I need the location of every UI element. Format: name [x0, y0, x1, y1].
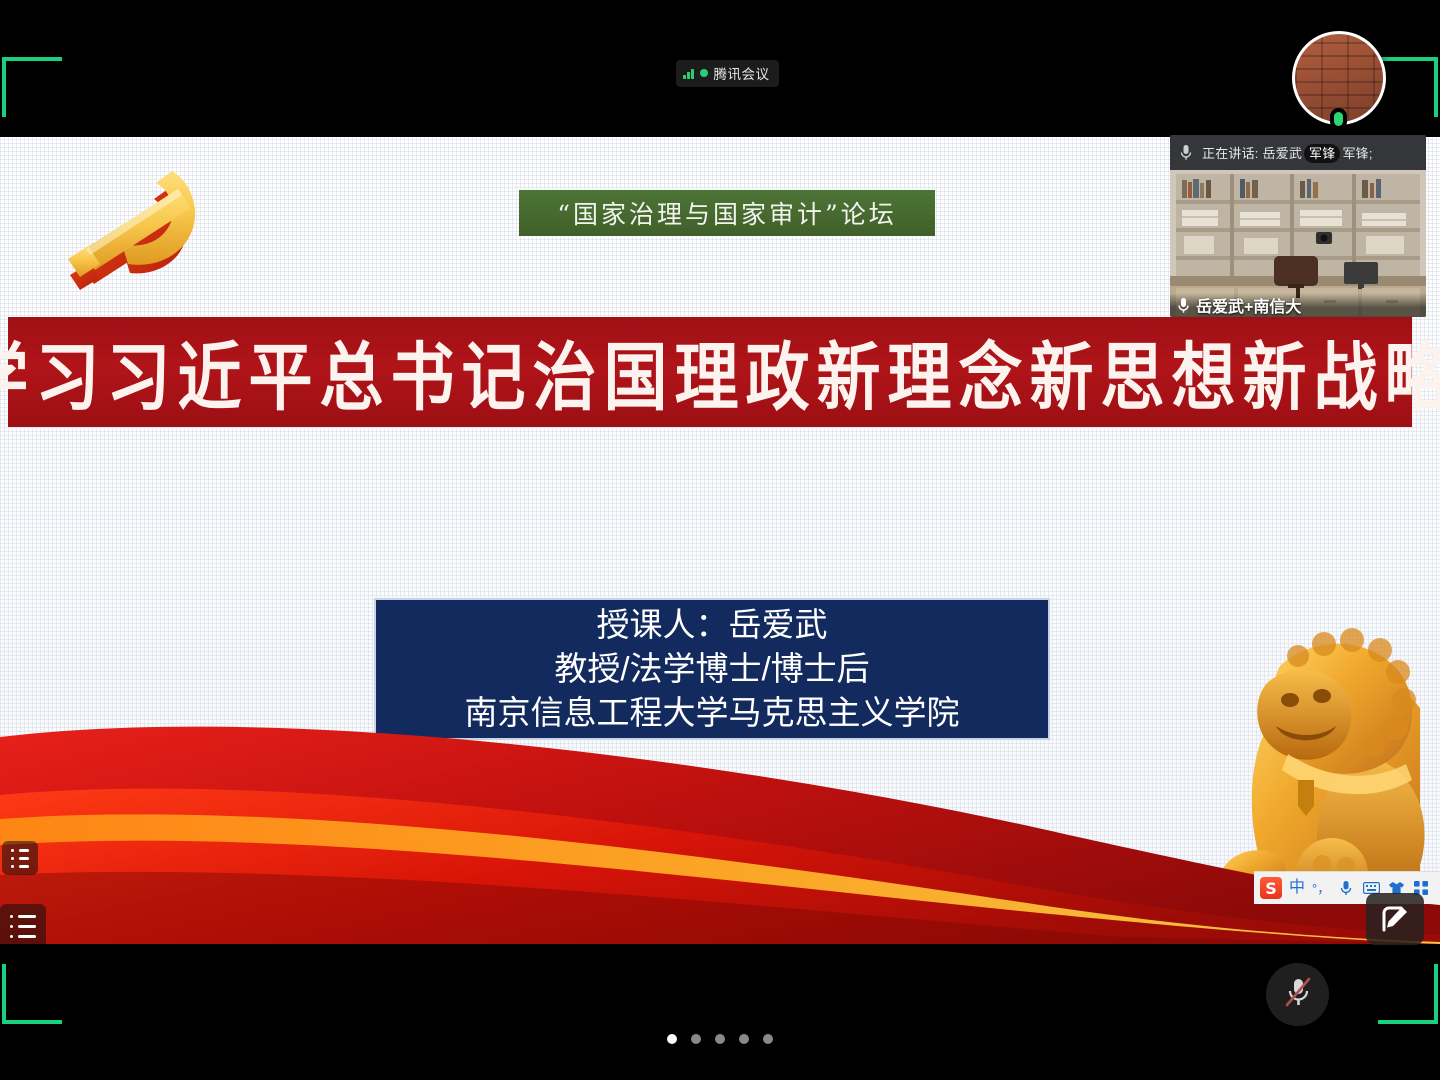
outline-list-icon	[11, 849, 29, 852]
page-dot-5[interactable]	[763, 1034, 773, 1044]
participant-video-thumbnail[interactable]: 正在讲话: 岳爱武军锋军锋;	[1170, 135, 1426, 317]
participant-name-overlay: 岳爱武+南信大	[1170, 293, 1426, 317]
annotate-pen-icon	[1380, 904, 1410, 934]
speaker-name-1: 岳爱武	[1262, 146, 1302, 161]
microphone-icon	[1178, 144, 1193, 162]
outline-list-button[interactable]	[2, 841, 38, 875]
speaker-name-3: 军锋;	[1342, 146, 1372, 161]
page-dot-3[interactable]	[715, 1034, 725, 1044]
chinese-mode-icon[interactable]: 中	[1289, 880, 1305, 896]
voice-input-icon[interactable]	[1337, 880, 1355, 896]
status-bar	[0, 0, 1440, 14]
share-border-corner-top-left	[2, 57, 62, 117]
page-indicator-dots[interactable]	[0, 1033, 1440, 1045]
slide-title-band: 学习习近平总书记治国理政新理念新思想新战略	[8, 317, 1412, 427]
red-silk-ribbon-decoration	[0, 699, 1440, 944]
forum-banner-label: “国家治理与国家审计”论坛	[557, 195, 897, 231]
speaking-prefix: 正在讲话:	[1202, 146, 1259, 161]
speaker-name-line: 授课人：岳爱武	[597, 604, 828, 646]
recording-dot-icon	[700, 69, 708, 77]
meeting-screen: 腾讯会议	[0, 0, 1440, 1080]
participants-list-icon	[10, 915, 36, 918]
self-view-mic-indicator-icon	[1330, 108, 1347, 130]
meeting-status-pill[interactable]: 腾讯会议	[676, 60, 779, 87]
share-border-corner-top-right	[1378, 57, 1438, 117]
speaking-label: 正在讲话: 岳爱武军锋军锋;	[1202, 143, 1373, 162]
speaker-name-2: 军锋	[1304, 144, 1340, 163]
participants-list-button[interactable]	[0, 904, 46, 944]
sogou-logo-icon[interactable]: S	[1260, 877, 1282, 899]
cpc-hammer-sickle-emblem-icon	[56, 159, 224, 309]
slide-main-title: 学习习近平总书记治国理政新理念新思想新战略	[0, 319, 1440, 425]
participant-name-label: 岳爱武+南信大	[1196, 293, 1301, 317]
annotate-button[interactable]	[1366, 893, 1424, 945]
app-name-label: 腾讯会议	[714, 63, 770, 83]
punctuation-icon[interactable]: °，	[1312, 882, 1330, 895]
page-dot-4[interactable]	[739, 1034, 749, 1044]
mute-toggle-button[interactable]	[1266, 963, 1329, 1026]
signal-bars-icon	[683, 68, 694, 79]
speaking-indicator-bar: 正在讲话: 岳爱武军锋军锋;	[1170, 135, 1426, 170]
speaker-title-line: 教授/法学博士/博士后	[554, 648, 869, 690]
page-dot-1[interactable]	[667, 1034, 677, 1044]
share-border-corner-bottom-left	[2, 964, 62, 1024]
page-dot-2[interactable]	[691, 1034, 701, 1044]
microphone-muted-icon	[1283, 975, 1313, 1014]
microphone-icon	[1176, 296, 1191, 314]
forum-banner: “国家治理与国家审计”论坛	[519, 190, 935, 236]
share-border-corner-bottom-right	[1378, 964, 1438, 1024]
